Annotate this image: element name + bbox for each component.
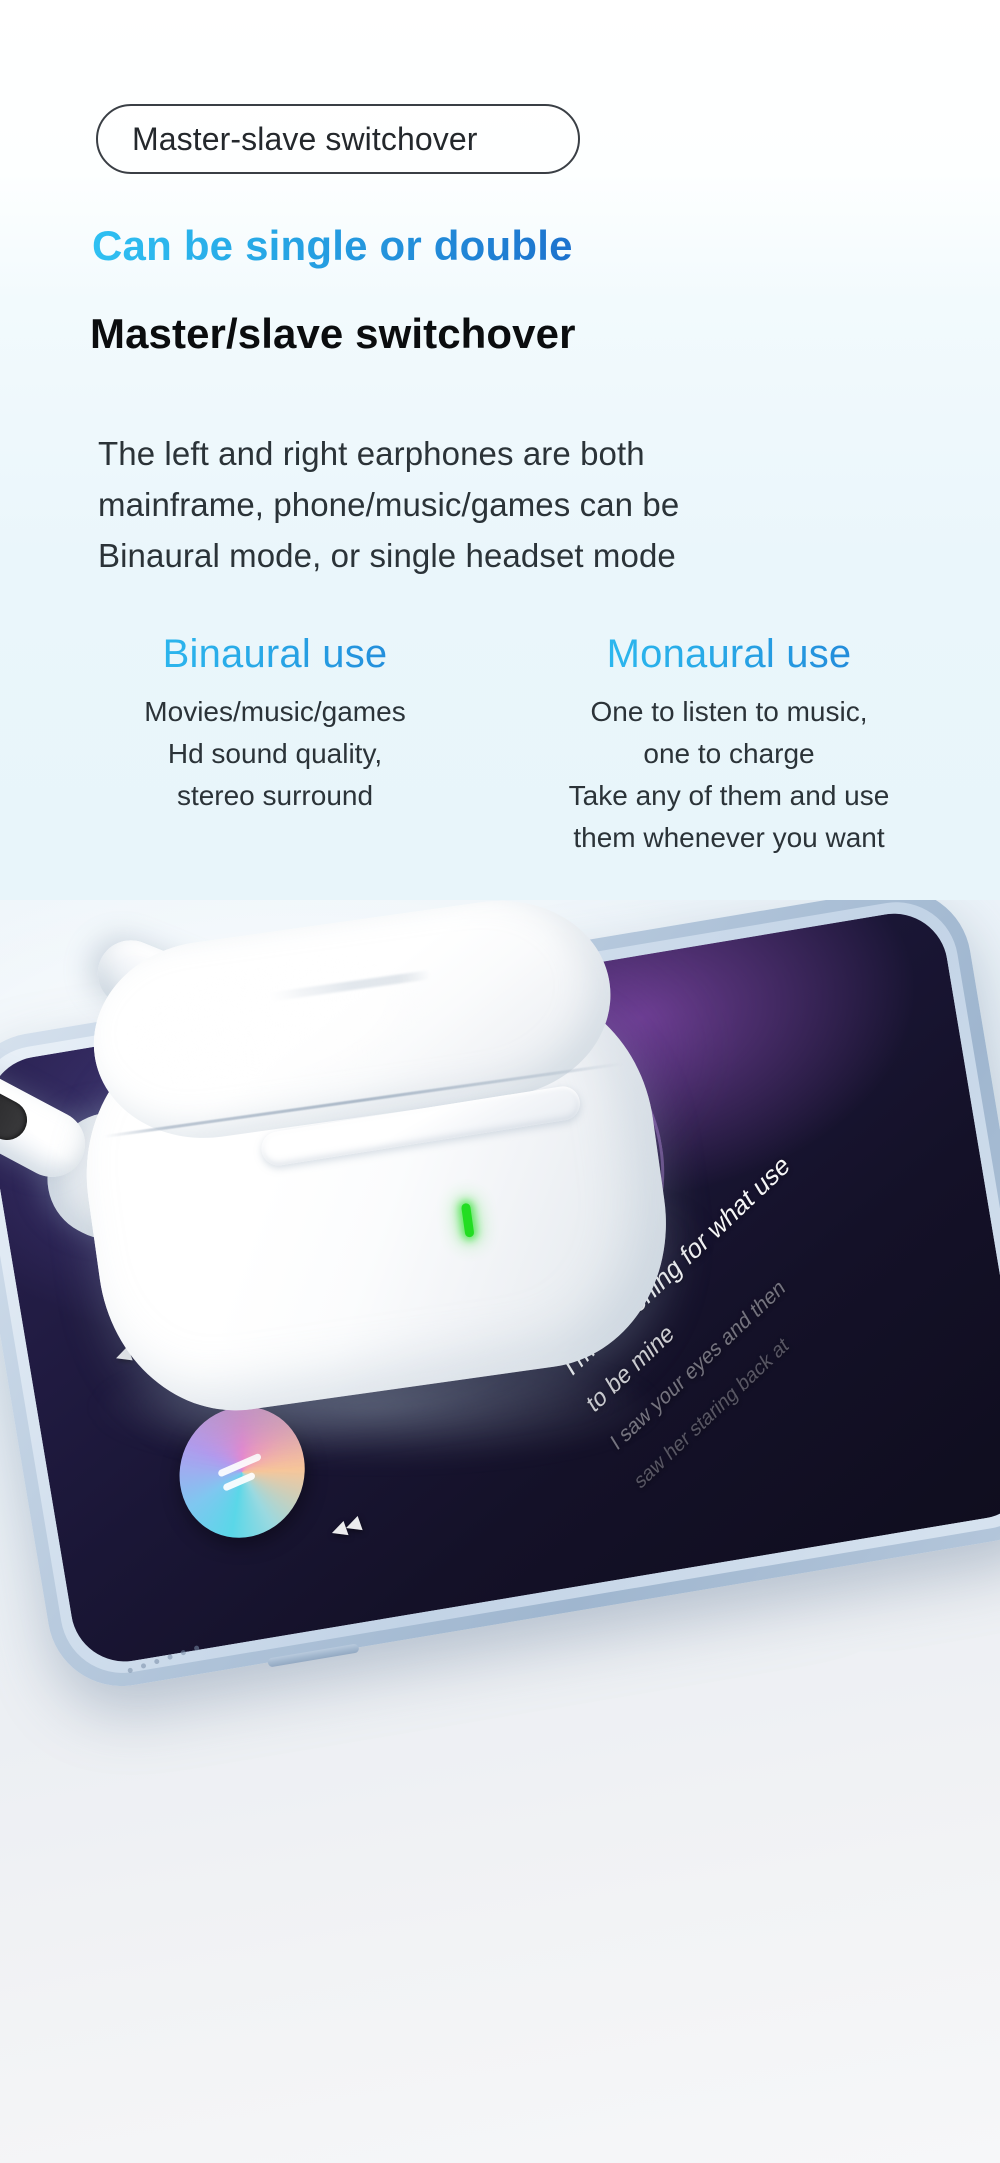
intro-line-2: mainframe, phone/music/games can be <box>98 479 838 530</box>
feature-column-monaural: Monaural use One to listen to music, one… <box>500 632 940 859</box>
feature-line: One to listen to music, <box>518 691 940 733</box>
headline-primary: Can be single or double <box>92 222 573 270</box>
intro-paragraph: The left and right earphones are both ma… <box>98 428 838 581</box>
intro-line-3: Binaural mode, or single headset mode <box>98 530 838 581</box>
feature-line: Take any of them and use <box>518 775 940 817</box>
feature-columns: Binaural use Movies/music/games Hd sound… <box>60 632 940 859</box>
feature-line: them whenever you want <box>518 817 940 859</box>
intro-line-1: The left and right earphones are both <box>98 428 838 479</box>
feature-line: one to charge <box>518 733 940 775</box>
section-tag: Master-slave switchover <box>96 104 580 174</box>
product-feature-banner: Master-slave switchover Can be single or… <box>0 0 1000 2163</box>
feature-line: Movies/music/games <box>60 691 490 733</box>
feature-line: stereo surround <box>60 775 490 817</box>
feature-body-monaural: One to listen to music, one to charge Ta… <box>518 691 940 859</box>
section-tag-label: Master-slave switchover <box>132 121 478 158</box>
charging-case <box>55 900 690 1467</box>
feature-body-binaural: Movies/music/games Hd sound quality, ste… <box>60 691 490 817</box>
feature-title-binaural: Binaural use <box>60 632 490 677</box>
feature-line: Hd sound quality, <box>60 733 490 775</box>
feature-column-binaural: Binaural use Movies/music/games Hd sound… <box>60 632 500 859</box>
product-photo: ◂◂ ◂◂ you're close you dr I tow the line… <box>0 900 1000 2163</box>
next-track-icon[interactable]: ◂◂ <box>326 1508 364 1546</box>
headline-secondary: Master/slave switchover <box>90 310 576 358</box>
feature-title-monaural: Monaural use <box>518 632 940 677</box>
